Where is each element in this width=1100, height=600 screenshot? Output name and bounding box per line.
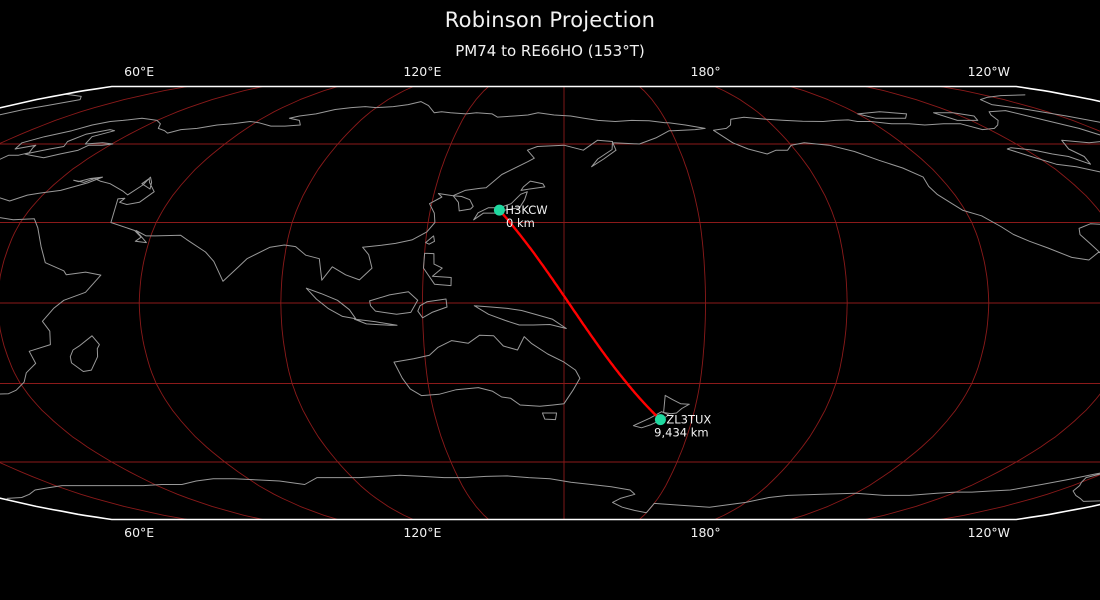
coastline-18	[664, 395, 690, 413]
lon-tick-label-2-top: 120°E	[403, 64, 441, 79]
coastline-11	[306, 288, 356, 319]
coastline-25	[7, 469, 1100, 512]
coastline-12	[354, 319, 397, 325]
lon-tick-label-4-bottom: 120°W	[968, 525, 1010, 540]
marker-layer[interactable]: H3KCW0 kmZL3TUX9,434 km	[494, 203, 712, 440]
station-distance-zl3tux: 9,434 km	[654, 426, 708, 440]
great-circle-path	[499, 210, 660, 420]
coastline-21	[0, 94, 1100, 144]
lon-tick-label-3-top: 180°	[691, 64, 721, 79]
station-distance-h3kcw: 0 km	[506, 216, 535, 230]
coastline-1	[70, 336, 99, 372]
longitude-axis-labels: 0°0°60°E60°E120°E120°E180°180°120°W120°W…	[0, 64, 1100, 540]
graticule-layer	[0, 87, 1100, 520]
station-marker-zl3tux[interactable]	[655, 414, 666, 425]
path-line	[499, 210, 660, 420]
lon-tick-label-3-bottom: 180°	[691, 525, 721, 540]
coastline-20	[714, 111, 1100, 260]
coastline-17	[542, 413, 556, 420]
coastline-8	[521, 181, 545, 190]
coastline-23	[858, 112, 907, 119]
station-callsign-zl3tux: ZL3TUX	[666, 413, 711, 427]
coastline-16	[394, 335, 580, 406]
map-page: Robinson Projection PM74 to RE66HO (153°…	[0, 0, 1100, 600]
lon-tick-label-2-bottom: 120°E	[403, 525, 441, 540]
coastline-10	[424, 253, 452, 285]
lon-tick-label-1-top: 60°E	[124, 64, 154, 79]
coastline-9	[426, 236, 435, 244]
robinson-map[interactable]: H3KCW0 kmZL3TUX9,434 km 0°0°60°E60°E120°…	[0, 0, 1100, 600]
station-callsign-h3kcw: H3KCW	[505, 203, 547, 217]
coastline-15	[474, 306, 566, 329]
lon-tick-label-4-top: 120°W	[968, 64, 1010, 79]
station-marker-h3kcw[interactable]	[494, 205, 505, 216]
lon-tick-label-1-bottom: 60°E	[124, 525, 154, 540]
